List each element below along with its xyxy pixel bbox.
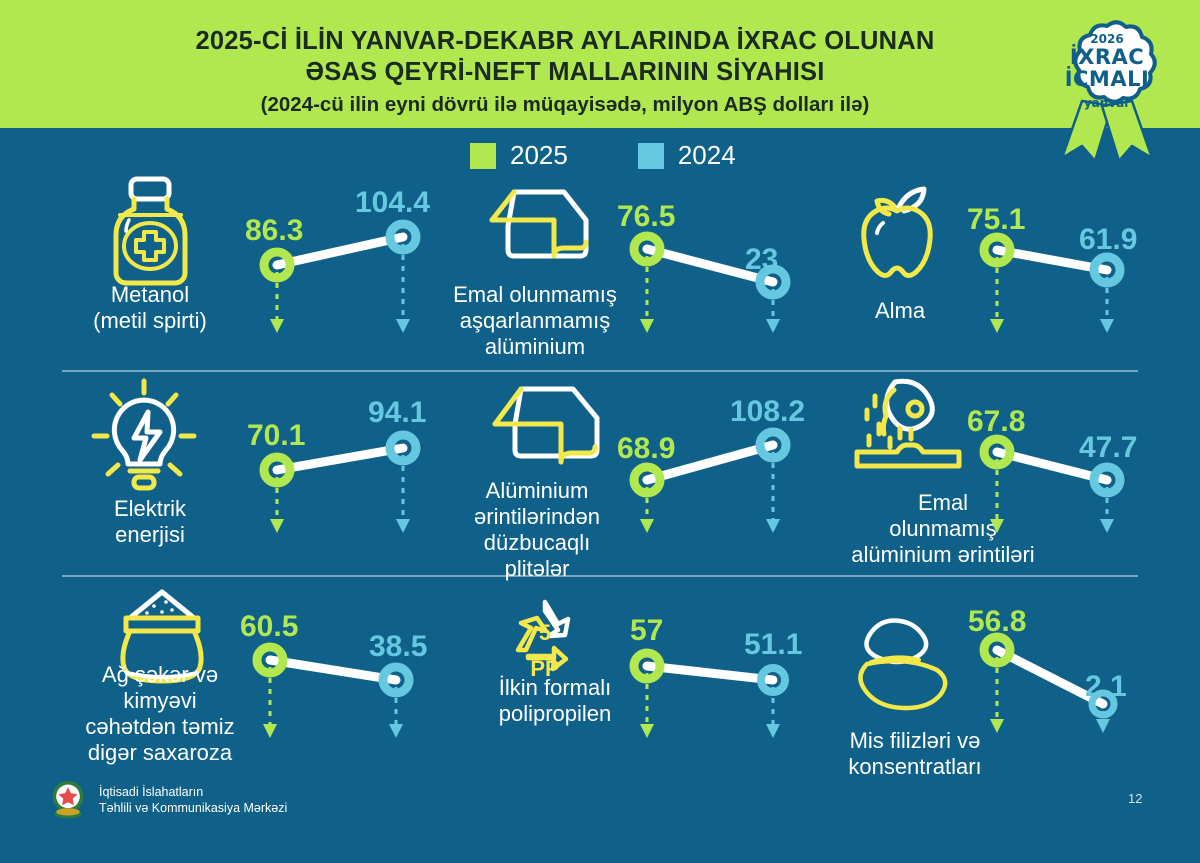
- medicine-bottle-icon: [103, 176, 198, 286]
- copper-ore-icon: [845, 618, 960, 718]
- azerbaijan-emblem-icon: [48, 779, 88, 821]
- legend-item-2024: 2024: [638, 140, 736, 171]
- legend-swatch-2025: [470, 143, 496, 169]
- footer-org-line-1: İqtisadi İslahatların: [99, 785, 203, 799]
- badge-line-1: İXRAC: [1032, 46, 1182, 69]
- recycle-pp-icon: 5 PP: [498, 598, 593, 678]
- value-2024-polypropylene: 51.1: [744, 628, 802, 662]
- value-2025-sugar: 60.5: [240, 610, 298, 644]
- badge-month: yanvar: [1032, 96, 1182, 110]
- value-2025-copper-ore: 56.8: [968, 605, 1026, 639]
- title-subtitle: (2024-cü ilin eyni dövrü ilə müqayisədə,…: [120, 90, 1010, 120]
- badge-year: 2026: [1032, 32, 1182, 46]
- page-number: 12: [1128, 791, 1142, 806]
- plot-raw-aluminium: [625, 232, 810, 352]
- item-label-elektrik: Elektrik enerjisi: [50, 496, 250, 548]
- value-2025-elektrik: 70.1: [247, 419, 305, 453]
- recycle-number: 5: [539, 620, 551, 645]
- value-2025-aluminium-alloys: 67.8: [967, 405, 1025, 439]
- infographic-page: 2025-Cİ İLİN YANVAR-DEKABR AYLARINDA İXR…: [0, 0, 1200, 863]
- value-2025-metanol: 86.3: [245, 214, 303, 248]
- title-line-2: ƏSAS QEYRİ-NEFT MALLARININ SİYAHISI: [120, 57, 1010, 88]
- value-2024-aluminium-plates: 108.2: [730, 395, 805, 429]
- value-2024-sugar: 38.5: [369, 630, 427, 664]
- lightbulb-icon: [82, 378, 207, 493]
- item-label-aluminium-plates: Alüminium ərintilərindən düzbucaqlı plit…: [437, 478, 637, 582]
- item-label-raw-aluminium: Emal olunmamış aşqarlanmamış alüminium: [435, 282, 635, 360]
- legend-label-2024: 2024: [678, 140, 736, 171]
- title-line-1: 2025-Cİ İLİN YANVAR-DEKABR AYLARINDA İXR…: [120, 26, 1010, 57]
- row-divider-1: [62, 370, 1138, 372]
- footer: İqtisadi İslahatlarınTəhlili və Kommunik…: [48, 779, 287, 821]
- legend-swatch-2024: [638, 143, 664, 169]
- value-2024-copper-ore: 2.1: [1085, 670, 1127, 704]
- badge-line-2: İCMALI: [1032, 68, 1182, 91]
- value-2025-polypropylene: 57: [630, 614, 663, 648]
- item-label-sugar: Ağ şəkər və kimyəvi cəhətdən təmiz digər…: [40, 662, 280, 766]
- footer-org-text: İqtisadi İslahatlarınTəhlili və Kommunik…: [99, 784, 287, 816]
- value-2024-elektrik: 94.1: [368, 396, 426, 430]
- legend-item-2025: 2025: [470, 140, 568, 171]
- legend-label-2025: 2025: [510, 140, 568, 171]
- molten-pour-icon: [853, 376, 963, 476]
- value-2025-alma: 75.1: [967, 203, 1025, 237]
- aluminium-ingot-icon: [482, 186, 592, 281]
- item-label-metanol: Metanol (metil spirti): [30, 282, 270, 334]
- value-2024-metanol: 104.4: [355, 186, 430, 220]
- legend: 2025 2024: [470, 140, 736, 171]
- apple-icon: [852, 183, 942, 283]
- footer-org-line-2: Təhlili və Kommunikasiya Mərkəzi: [99, 801, 287, 815]
- value-2025-raw-aluminium: 76.5: [617, 200, 675, 234]
- value-2024-aluminium-alloys: 47.7: [1079, 431, 1137, 465]
- page-title: 2025-Cİ İLİN YANVAR-DEKABR AYLARINDA İXR…: [120, 26, 1010, 120]
- ixrac-icmali-badge: 2026 İXRAC İCMALI yanvar: [1032, 6, 1182, 166]
- value-2024-raw-aluminium: 23: [745, 243, 778, 277]
- aluminium-slab-icon: [487, 383, 602, 483]
- value-2025-aluminium-plates: 68.9: [617, 432, 675, 466]
- value-2024-alma: 61.9: [1079, 223, 1137, 257]
- item-label-alma: Alma: [830, 298, 970, 324]
- badge-ribbons: [1062, 101, 1152, 161]
